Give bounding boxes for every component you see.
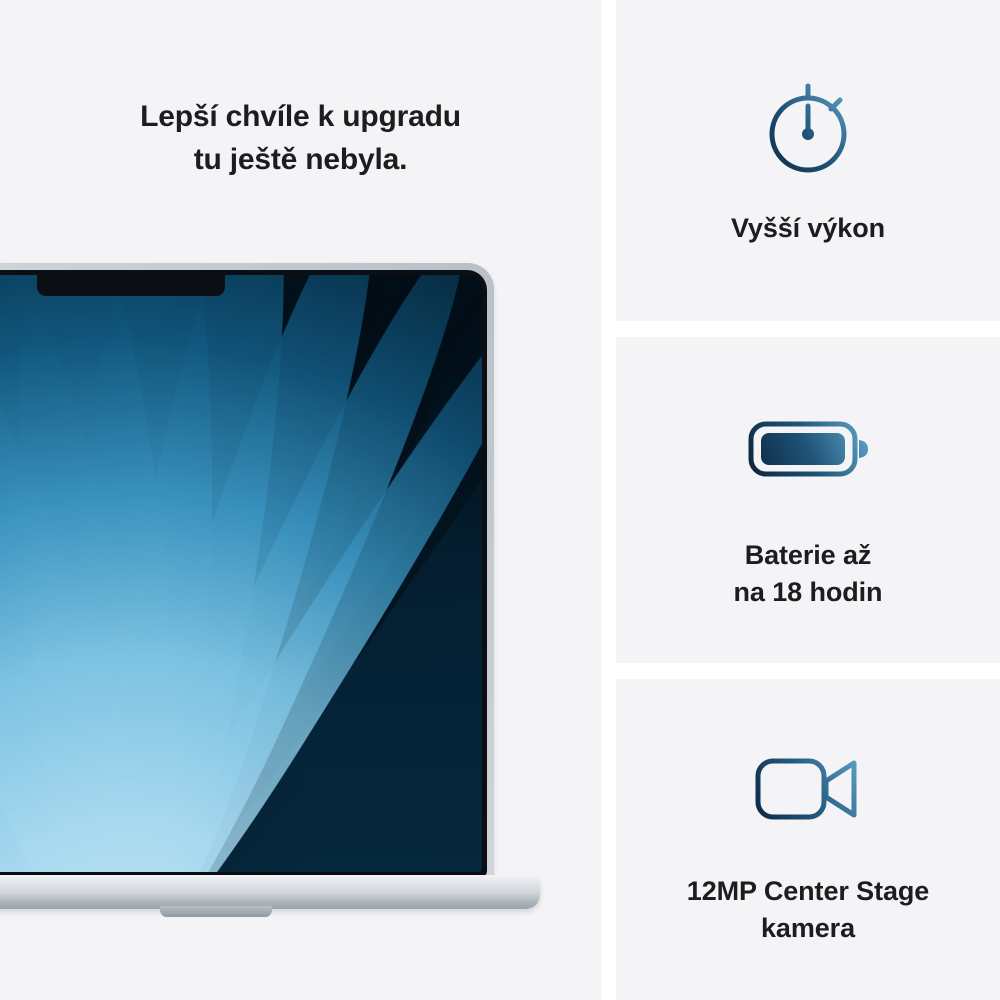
promo-layout: Lepší chvíle k upgradu tu ještě nebyla. [0,0,1000,1000]
laptop-lid [0,263,494,883]
macbook-air-product-image [0,263,558,923]
feature-label-battery: Baterie až na 18 hodin [734,537,883,611]
screen-notch [37,270,225,296]
video-camera-icon [743,733,873,843]
feature-label-performance: Vyšší výkon [731,210,885,247]
laptop-bezel [0,270,487,877]
stopwatch-icon [743,74,873,184]
blue-fan-wallpaper [0,275,482,872]
feature-card-camera: 12MP Center Stage kamera [616,679,1000,1000]
feature-card-battery: Baterie až na 18 hodin [616,337,1000,663]
battery-icon [743,393,873,503]
hero-panel: Lepší chvíle k upgradu tu ještě nebyla. [0,0,601,1000]
headline-line-2: tu ještě nebyla. [0,138,601,181]
page-title: Lepší chvíle k upgradu tu ještě nebyla. [0,95,601,181]
feature-card-performance: Vyšší výkon [616,0,1000,321]
laptop-screen [0,275,482,872]
feature-card-list: Vyšší výkon Baterie až na [616,0,1000,1000]
laptop-foot [160,906,272,917]
laptop-base [0,875,540,909]
feature-label-camera: 12MP Center Stage kamera [687,873,929,947]
headline-line-1: Lepší chvíle k upgradu [0,95,601,138]
